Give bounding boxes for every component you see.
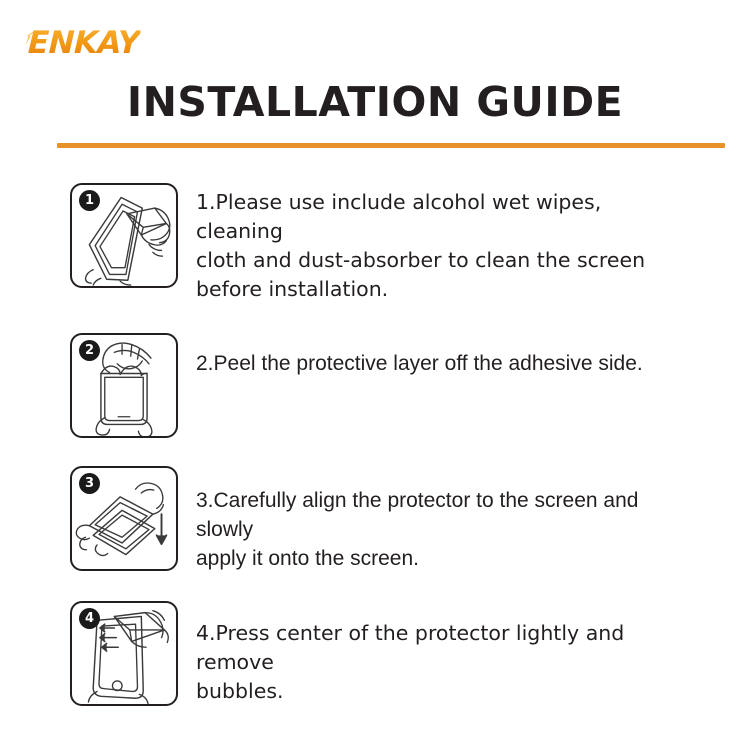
step-description: 4.Press center of the protector lightly … [196, 619, 750, 706]
step-number-badge: 4 [79, 608, 100, 629]
peel-layer-icon: 2 [70, 333, 178, 438]
step-number-badge: 2 [79, 340, 100, 361]
step-description: 1.Please use include alcohol wet wipes, … [196, 188, 750, 304]
step-item: 4 4.Press center of the protector lightl… [0, 601, 750, 706]
enkay-logo-mark: ENKAY [28, 28, 140, 59]
step-description: 3.Carefully align the protector to the s… [196, 486, 750, 573]
wipe-screen-icon: 1 [70, 183, 178, 288]
brand-logo: ENKAY [28, 26, 140, 60]
page-title: INSTALLATION GUIDE [0, 78, 750, 126]
align-protector-icon: 3 [70, 466, 178, 571]
press-bubbles-icon: 4 [70, 601, 178, 706]
step-item: 2 2.Peel the protective layer off the ad… [0, 333, 750, 438]
step-number-badge: 1 [79, 190, 100, 211]
title-divider [57, 143, 725, 148]
step-number-badge: 3 [79, 473, 100, 494]
step-item: 3 3.Carefully align the protector to the… [0, 466, 750, 573]
installation-guide-page: ENKAY INSTALLATION GUIDE [0, 0, 750, 750]
brand-name: ENKAY [27, 28, 140, 59]
steps-list: 1 1.Please use include alcohol wet wipes… [0, 176, 750, 706]
step-description: 2.Peel the protective layer off the adhe… [196, 349, 750, 378]
step-item: 1 1.Please use include alcohol wet wipes… [0, 183, 750, 304]
